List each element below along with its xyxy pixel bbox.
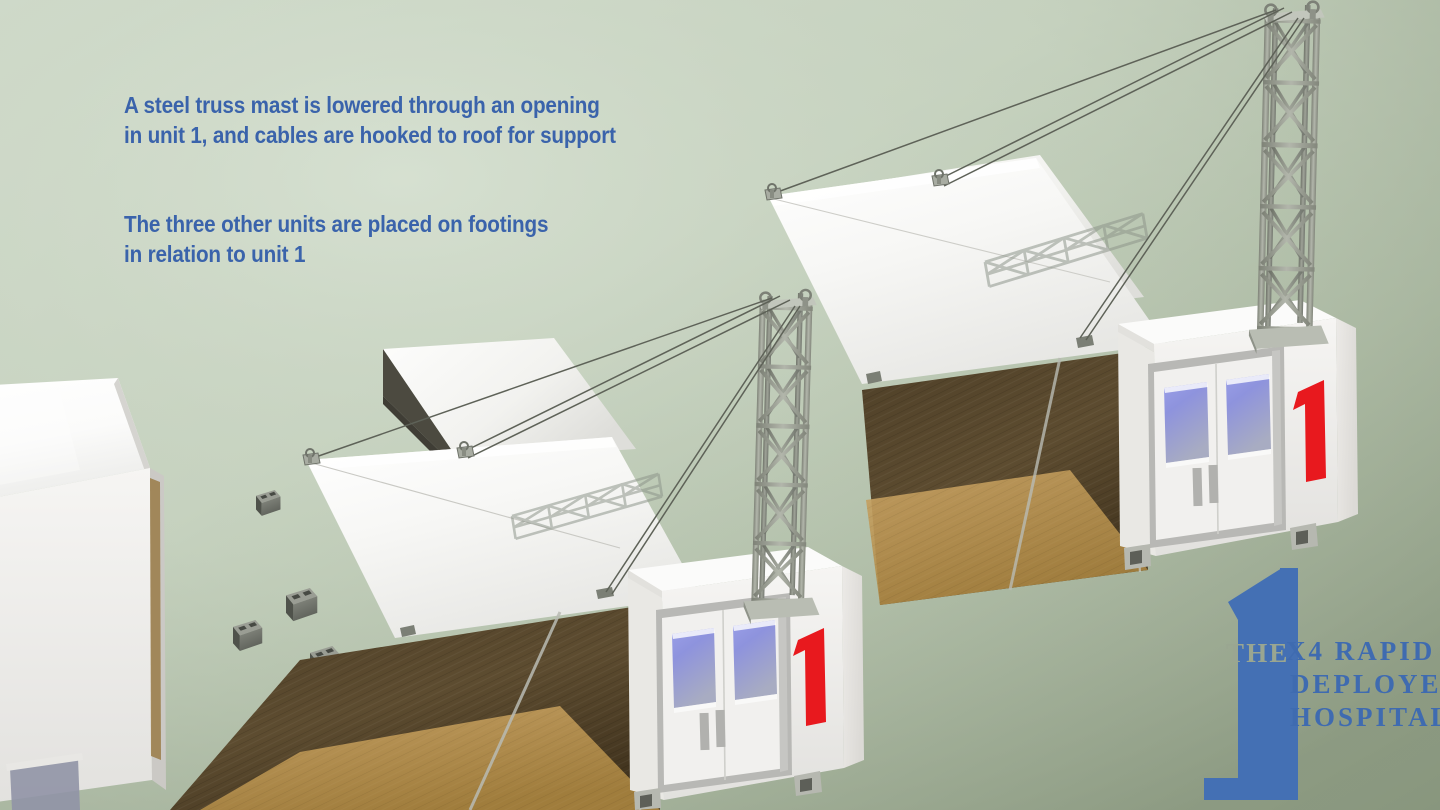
logo-line-1: X4 RAPID: [1286, 636, 1435, 666]
caption-footings: The three other units are placed on foot…: [124, 209, 548, 269]
brand-logo: THE X4 RAPID DEPLOYED HOSPITAL: [1190, 560, 1440, 810]
unit-right-floor: [862, 352, 1148, 605]
logo-line-2: DEPLOYED: [1290, 669, 1440, 699]
logo-line-the: THE: [1226, 638, 1290, 668]
logo-line-3: HOSPITAL: [1290, 702, 1440, 732]
unit-center-body: [628, 547, 864, 810]
render-canvas: A steel truss mast is lowered through an…: [0, 0, 1440, 810]
caption-truss-mast: A steel truss mast is lowered through an…: [124, 90, 616, 150]
logo-numeral: [1204, 568, 1298, 800]
